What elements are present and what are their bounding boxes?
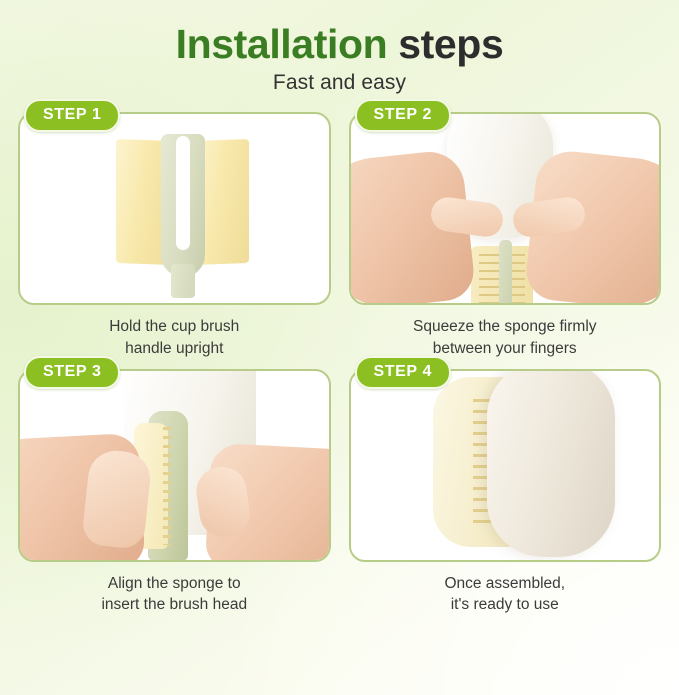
page-title: Installation steps xyxy=(0,22,679,66)
step-3-caption-line-2: insert the brush head xyxy=(18,594,331,615)
step-2-badge: STEP 2 xyxy=(355,99,451,132)
step-card-2: STEP 2 Squeeze the sponge firmly between… xyxy=(349,112,662,359)
assembled-sponge xyxy=(487,369,615,557)
step-card-3: STEP 3 Align the sponge to insert the br… xyxy=(18,369,331,616)
step-3-photo xyxy=(20,371,329,560)
step-1-caption-line-1: Hold the cup brush xyxy=(18,316,331,337)
step-2-image-card xyxy=(349,112,662,305)
step-3-caption-line-1: Align the sponge to xyxy=(18,573,331,594)
step-4-caption-line-1: Once assembled, xyxy=(349,573,662,594)
step-3-image-card xyxy=(18,369,331,562)
step-4-caption-line-2: it's ready to use xyxy=(349,594,662,615)
brush-fork-slot xyxy=(176,136,190,250)
header: Installation steps Fast and easy xyxy=(0,0,679,95)
step-1-caption: Hold the cup brush handle upright xyxy=(18,316,331,359)
step-1-photo xyxy=(20,114,329,303)
step-3-caption: Align the sponge to insert the brush hea… xyxy=(18,573,331,616)
step-4-caption: Once assembled, it's ready to use xyxy=(349,573,662,616)
step-card-4: STEP 4 Once assembled, it's ready to use xyxy=(349,369,662,616)
infographic-page: Installation steps Fast and easy STEP 1 … xyxy=(0,0,679,695)
step-2-caption-line-1: Squeeze the sponge firmly xyxy=(349,316,662,337)
step-1-image-card xyxy=(18,112,331,305)
step-2-caption: Squeeze the sponge firmly between your f… xyxy=(349,316,662,359)
step-4-image-card xyxy=(349,369,662,562)
step-card-1: STEP 1 Hold the cup brush handle upright xyxy=(18,112,331,359)
steps-grid: STEP 1 Hold the cup brush handle upright xyxy=(0,112,679,616)
step-2-photo xyxy=(351,114,660,303)
brush-stem xyxy=(499,240,512,305)
step-1-badge: STEP 1 xyxy=(24,99,120,132)
step-4-photo xyxy=(351,371,660,560)
page-title-green-part: Installation xyxy=(176,21,388,67)
brush-handle-neck xyxy=(171,264,195,298)
left-thumb xyxy=(81,448,153,550)
page-subtitle: Fast and easy xyxy=(0,71,679,95)
step-4-badge: STEP 4 xyxy=(355,356,451,389)
step-3-badge: STEP 3 xyxy=(24,356,120,389)
page-title-dark-part: steps xyxy=(387,21,503,67)
